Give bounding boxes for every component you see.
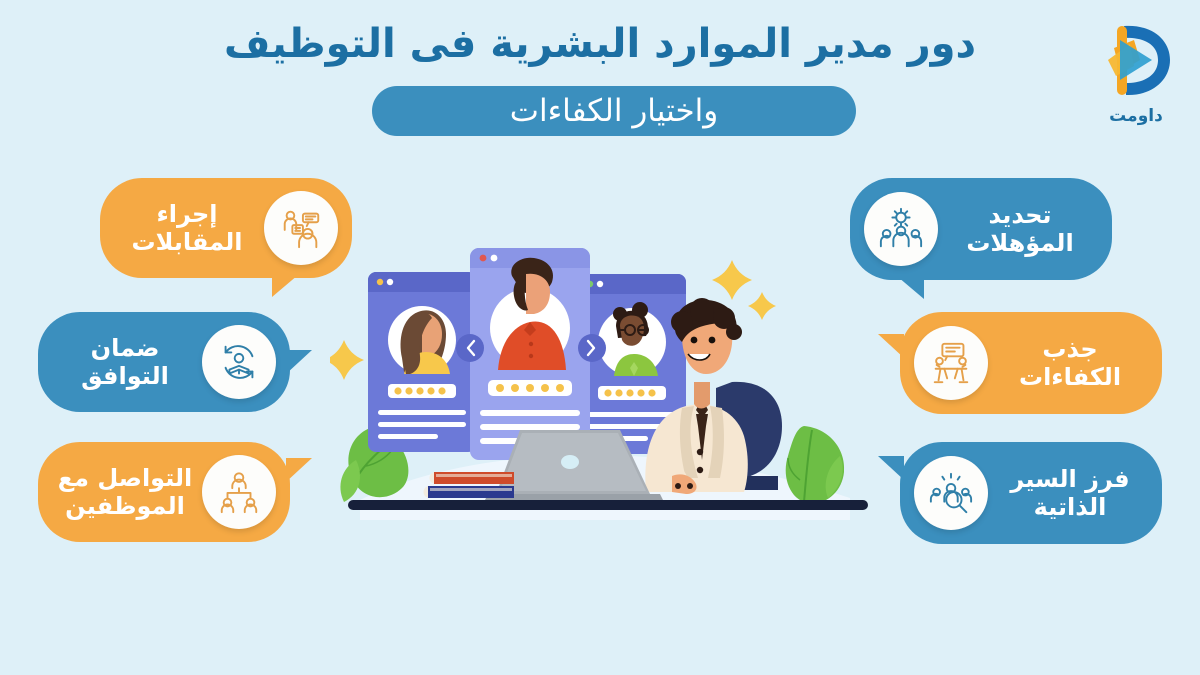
brand-name: داومت — [1090, 106, 1182, 126]
bubble-tail — [272, 275, 298, 297]
person-sync-icon — [202, 325, 276, 399]
meeting-table-icon — [914, 326, 988, 400]
dawamat-logo-icon — [1090, 18, 1182, 106]
bubble-label: تحديد المؤهلات — [938, 201, 1102, 258]
bubble-tail — [898, 277, 924, 299]
bubble-interviews[interactable]: إجراء المقابلات — [100, 178, 352, 278]
leaf-plant-right — [786, 426, 844, 503]
bubble-communication[interactable]: التواصل مع الموظفين — [38, 442, 290, 542]
bubble-compatibility[interactable]: ضمان التوافق — [38, 312, 290, 412]
page-title: دور مدير الموارد البشرية فى التوظيف — [0, 22, 1200, 66]
hr-illustration — [330, 230, 890, 550]
bubble-label: ضمان التوافق — [48, 334, 202, 391]
bubble-label: التواصل مع الموظفين — [48, 464, 202, 521]
bubble-attract[interactable]: جذب الكفاءات — [900, 312, 1162, 414]
desk-surface — [348, 500, 868, 510]
candidate-card-left — [368, 272, 476, 452]
carousel-prev-button — [456, 334, 484, 362]
subtitle-pill: واختيار الكفاءات — [372, 86, 856, 136]
bubble-tail — [286, 458, 312, 482]
carousel-next-button — [578, 334, 606, 362]
page-subtitle: واختيار الكفاءات — [510, 96, 718, 127]
bubble-label: جذب الكفاءات — [988, 335, 1152, 392]
bubble-screening[interactable]: فرز السير الذاتية — [900, 442, 1162, 544]
bubble-label: فرز السير الذاتية — [988, 465, 1152, 522]
org-network-icon — [202, 455, 276, 529]
header: دور مدير الموارد البشرية فى التوظيف واخت… — [0, 0, 1200, 150]
brand-logo[interactable]: داومت — [1090, 18, 1182, 128]
interview-icon — [264, 191, 338, 265]
bubble-tail — [286, 350, 312, 374]
candidate-card-center — [470, 248, 590, 460]
candidate-search-icon — [914, 456, 988, 530]
infographic-canvas: دور مدير الموارد البشرية فى التوظيف واخت… — [0, 0, 1200, 675]
bubble-label: إجراء المقابلات — [110, 200, 264, 257]
